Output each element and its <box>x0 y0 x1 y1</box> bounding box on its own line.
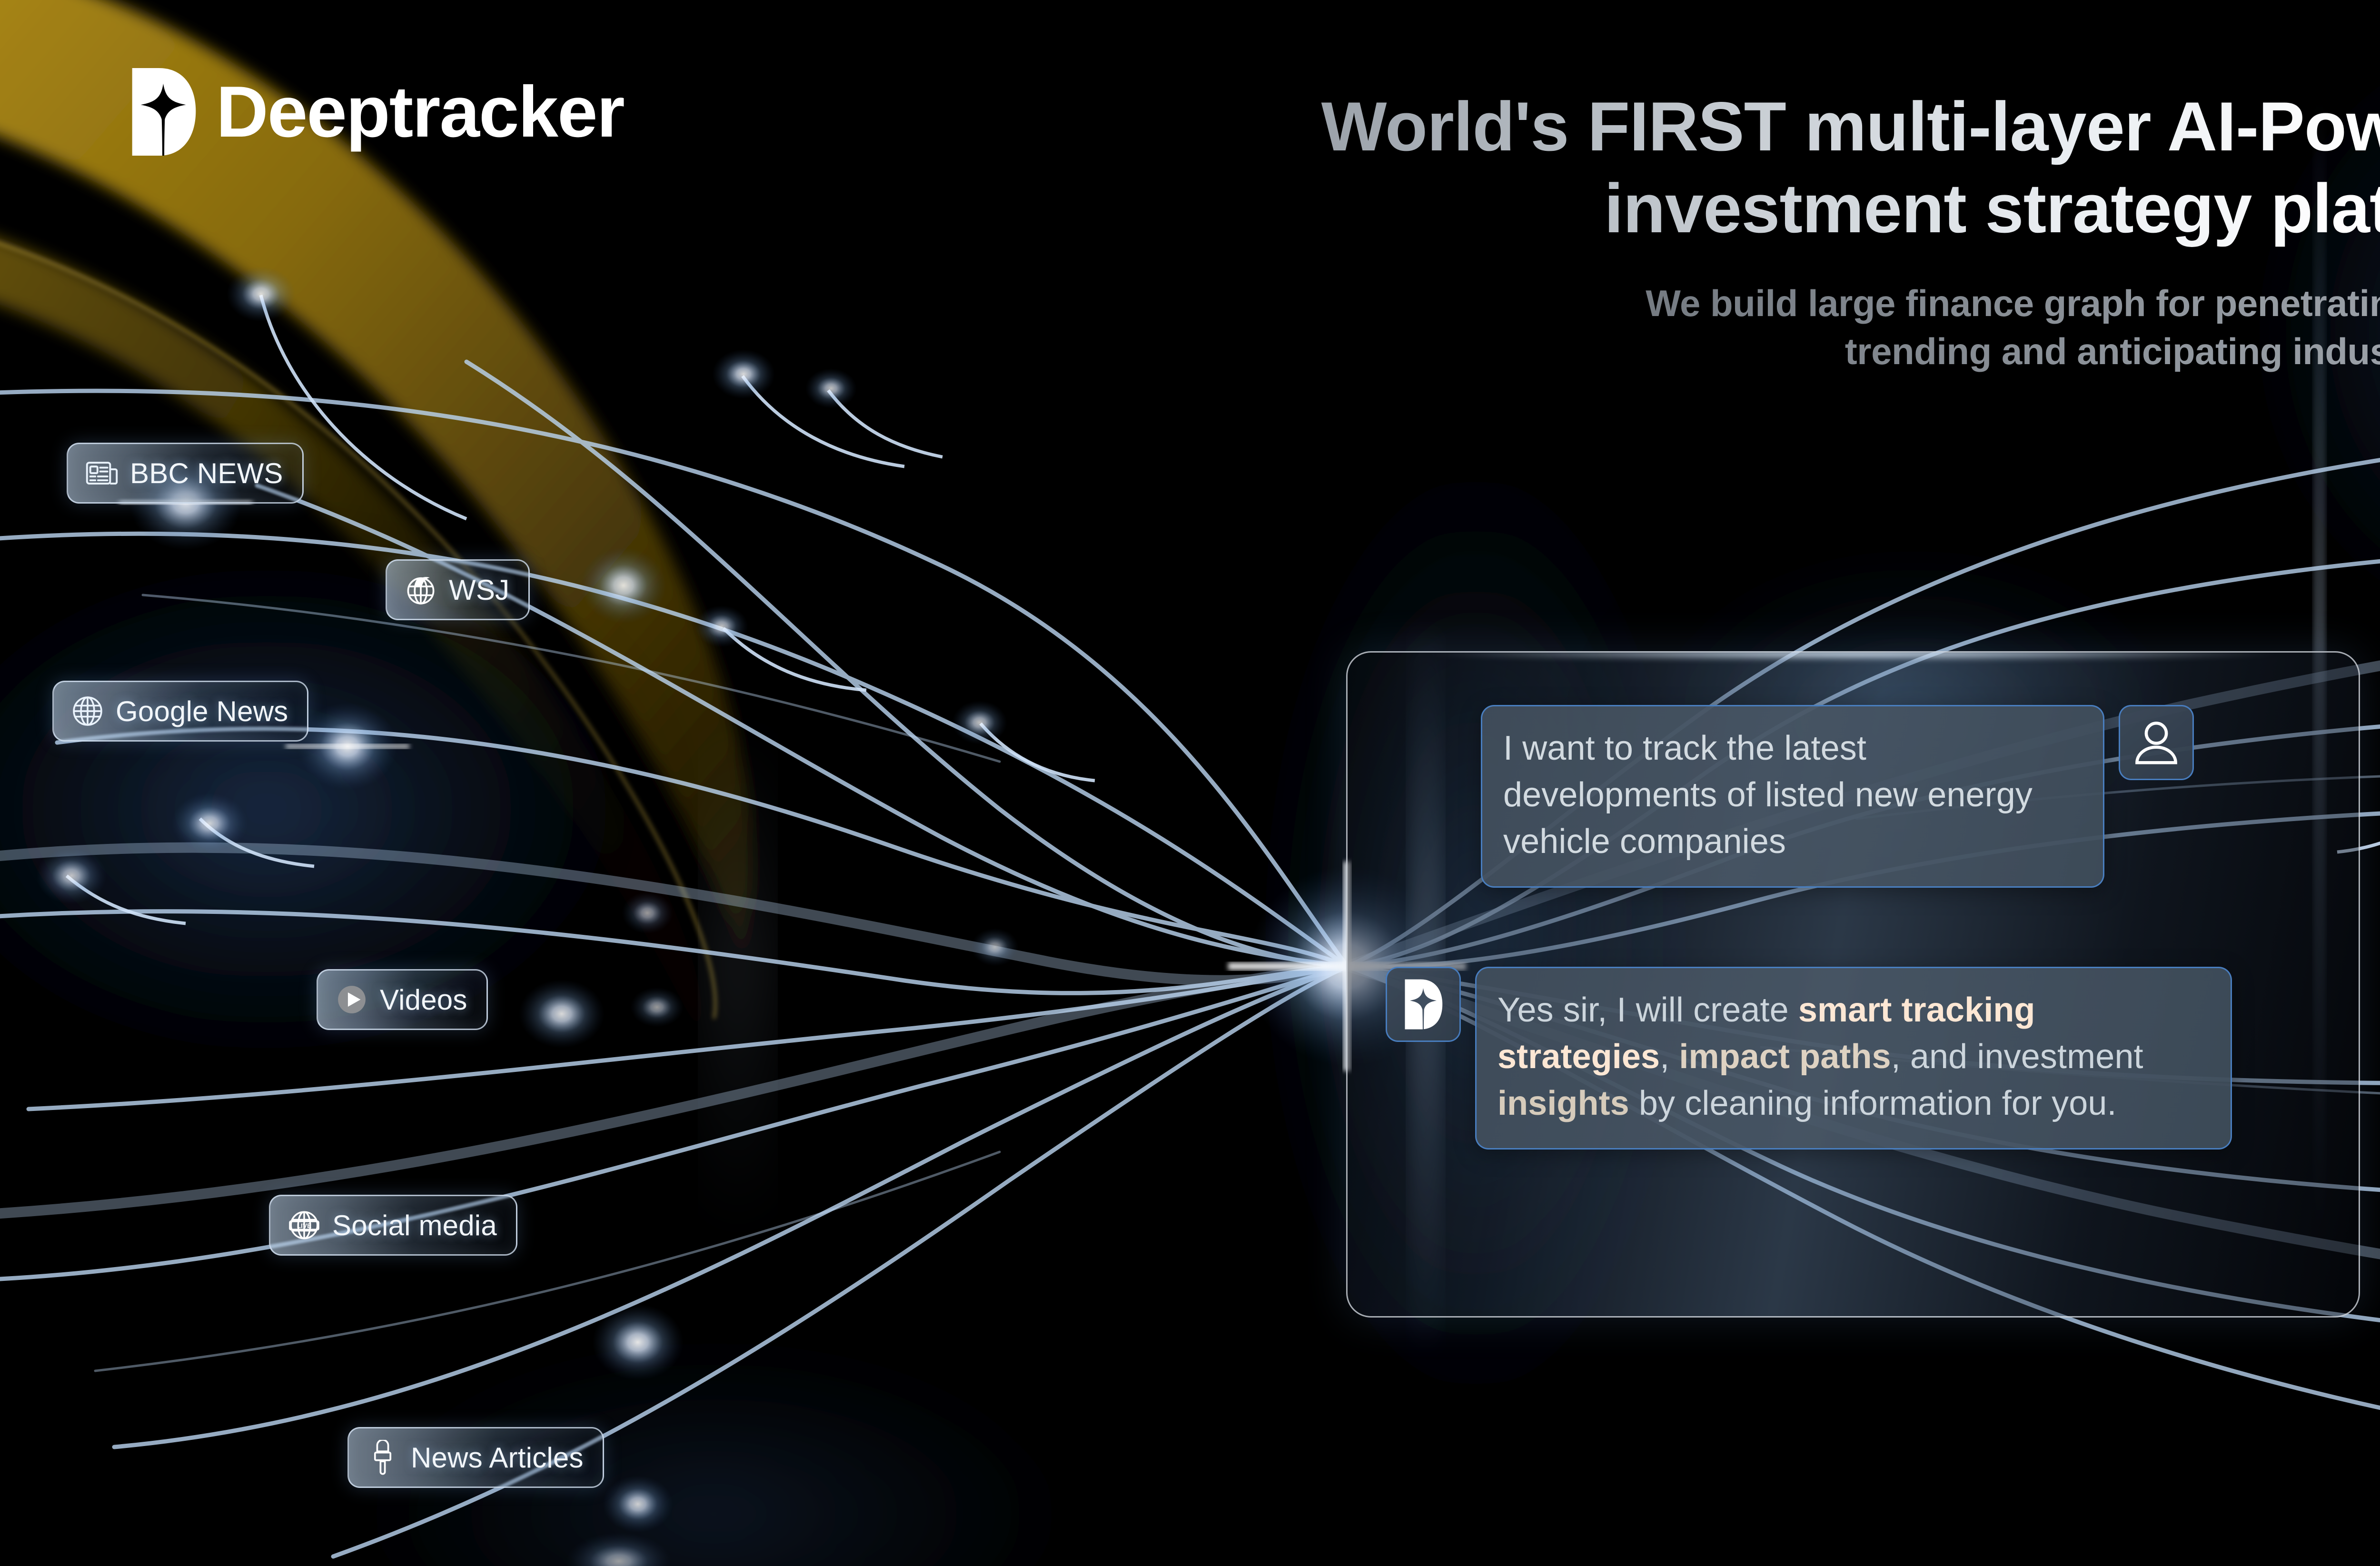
brand-logo[interactable]: Deeptracker <box>128 67 624 157</box>
source-chip-label: News Articles <box>411 1441 584 1474</box>
bot-message-bubble[interactable]: Yes sir, I will create smart tracking st… <box>1475 967 2232 1150</box>
source-chip-label: WSJ <box>449 574 509 606</box>
source-chip-news-articles[interactable]: News Articles <box>347 1427 604 1488</box>
bot-seg-2: , <box>1660 1038 1679 1076</box>
brand-name: Deeptracker <box>216 76 624 148</box>
source-chip-social-media[interactable]: LIVE Social media <box>269 1195 517 1256</box>
chat-panel: I want to track the latest developments … <box>1346 651 2360 1318</box>
source-chip-label: BBC NEWS <box>130 457 283 490</box>
bot-seg-5-highlight: insights <box>1497 1084 1629 1122</box>
bot-seg-0: Yes sir, I will create <box>1497 991 1798 1029</box>
subhead-line-1: We build large finance graph for penetra… <box>912 279 2380 327</box>
source-chip-videos[interactable]: Videos <box>317 969 488 1030</box>
headline-line-2: investment strategy platform <box>912 168 2380 249</box>
page-subtitle: We build large finance graph for penetra… <box>912 279 2380 376</box>
user-avatar-icon <box>2132 718 2181 767</box>
microphone-icon <box>365 1440 400 1475</box>
user-message-bubble[interactable]: I want to track the latest developments … <box>1481 705 2104 888</box>
chat-message-bot: Yes sir, I will create smart tracking st… <box>1386 967 2232 1150</box>
bot-seg-4: , and investment <box>1891 1038 2143 1076</box>
source-chip-bbc-news[interactable]: BBC NEWS <box>67 443 304 504</box>
deeptracker-sparkle-d-logo-icon <box>128 67 199 157</box>
svg-text:LIVE: LIVE <box>297 1222 312 1229</box>
bot-seg-3-highlight: impact paths <box>1679 1038 1891 1076</box>
source-chip-label: Google News <box>116 695 288 728</box>
headline-line-1: World's FIRST multi-layer AI-Powered <box>912 86 2380 168</box>
subhead-line-2: trending and anticipating industry shift… <box>912 327 2380 376</box>
source-chip-wsj[interactable]: WSJ <box>386 559 530 620</box>
bot-message-text: Yes sir, I will create smart tracking st… <box>1497 987 2210 1127</box>
source-chip-label: Social media <box>332 1209 497 1242</box>
user-message-text: I want to track the latest developments … <box>1503 725 2082 865</box>
live-globe-icon: LIVE <box>287 1208 322 1243</box>
bot-avatar <box>1386 967 1461 1042</box>
deeptracker-logo-icon <box>1399 978 1447 1031</box>
hero-text: World's FIRST multi-layer AI-Powered inv… <box>912 86 2380 376</box>
page-title: World's FIRST multi-layer AI-Powered inv… <box>912 86 2380 250</box>
panel-top-glow <box>1428 651 2278 660</box>
source-chip-google-news[interactable]: Google News <box>52 681 308 742</box>
globe-icon <box>70 694 105 729</box>
play-circle-icon <box>334 982 369 1017</box>
newspaper-icon <box>84 456 119 491</box>
bot-seg-6: by cleaning information for you. <box>1629 1084 2117 1122</box>
globe-arrow-icon <box>403 572 438 607</box>
source-chip-label: Videos <box>380 983 467 1016</box>
chat-message-user: I want to track the latest developments … <box>1481 705 2194 888</box>
user-avatar <box>2119 705 2194 780</box>
